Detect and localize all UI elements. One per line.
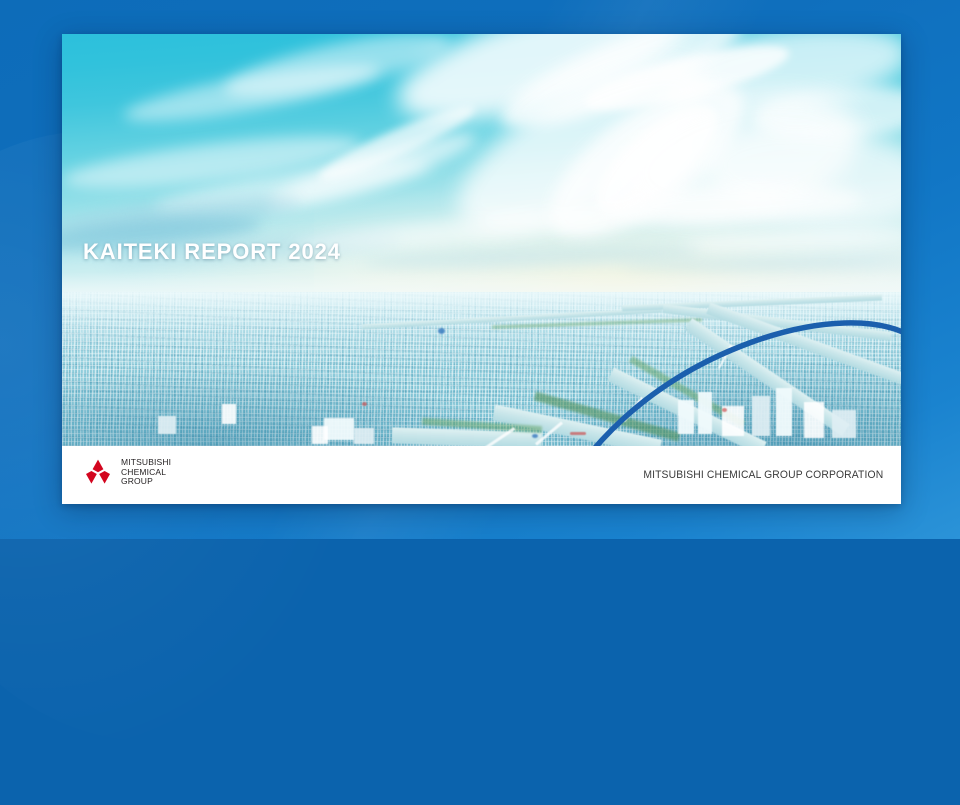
accent-dot [438,328,445,334]
accent-track [570,432,586,435]
building-block [222,404,236,424]
building-block [158,416,176,434]
cityscape [62,292,901,446]
accent-dot [532,434,538,438]
brand-lockup: MITSUBISHI CHEMICAL GROUP [83,458,171,487]
corporate-name-text: MITSUBISHI CHEMICAL GROUP CORPORATION [643,469,883,481]
accent-dot [362,402,367,406]
building-block [354,428,374,444]
brand-wordmark: MITSUBISHI CHEMICAL GROUP [121,458,171,487]
building-block [324,418,354,440]
building-block [678,400,694,434]
building-block [312,426,328,444]
building-block [832,410,856,438]
building-block [752,396,770,436]
mitsubishi-three-diamonds-icon [83,459,113,486]
cover-title: KAITEKI REPORT 2024 [83,239,341,265]
building-block [804,402,824,438]
cover-footer: MITSUBISHI CHEMICAL GROUP MITSUBISHI CHE… [62,446,901,504]
brand-wordmark-line-3: GROUP [121,477,171,487]
building-block [776,388,792,436]
report-cover-page: KAITEKI REPORT 2024 MITSUBISHI CHEMICAL … [62,34,901,504]
accent-dot [722,408,727,412]
building-block [698,392,712,434]
cover-photograph: KAITEKI REPORT 2024 [62,34,901,446]
corporate-name: MITSUBISHI CHEMICAL GROUP CORPORATION [628,469,883,481]
